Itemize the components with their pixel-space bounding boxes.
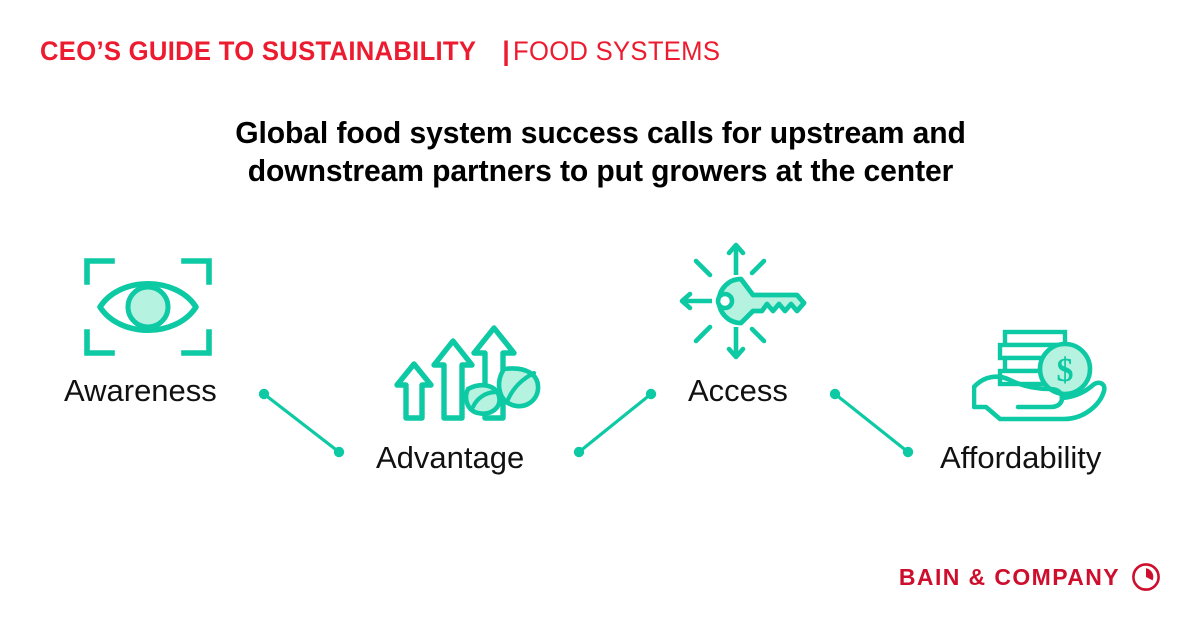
bain-wordmark: BAIN & COMPANY xyxy=(899,566,1120,589)
growth-arrows-leaf-icon xyxy=(386,323,541,421)
connector-advantage-access xyxy=(574,389,656,457)
key-radiating-icon xyxy=(678,241,808,361)
dollar-sign-glyph: $ xyxy=(1057,352,1074,389)
node-label-advantage: Advantage xyxy=(376,442,524,473)
node-label-awareness: Awareness xyxy=(64,375,217,406)
hand-coins-icon: $ xyxy=(972,327,1107,422)
diagram-stage: Awareness Advantage xyxy=(0,0,1201,628)
node-label-affordability: Affordability xyxy=(940,442,1101,473)
node-label-access: Access xyxy=(688,375,788,406)
bain-logo: BAIN & COMPANY xyxy=(899,562,1161,592)
connector-access-affordability xyxy=(830,389,913,457)
bain-circle-mark xyxy=(1131,562,1161,592)
connector-awareness-advantage xyxy=(259,389,344,457)
eye-focus-icon xyxy=(78,252,218,362)
